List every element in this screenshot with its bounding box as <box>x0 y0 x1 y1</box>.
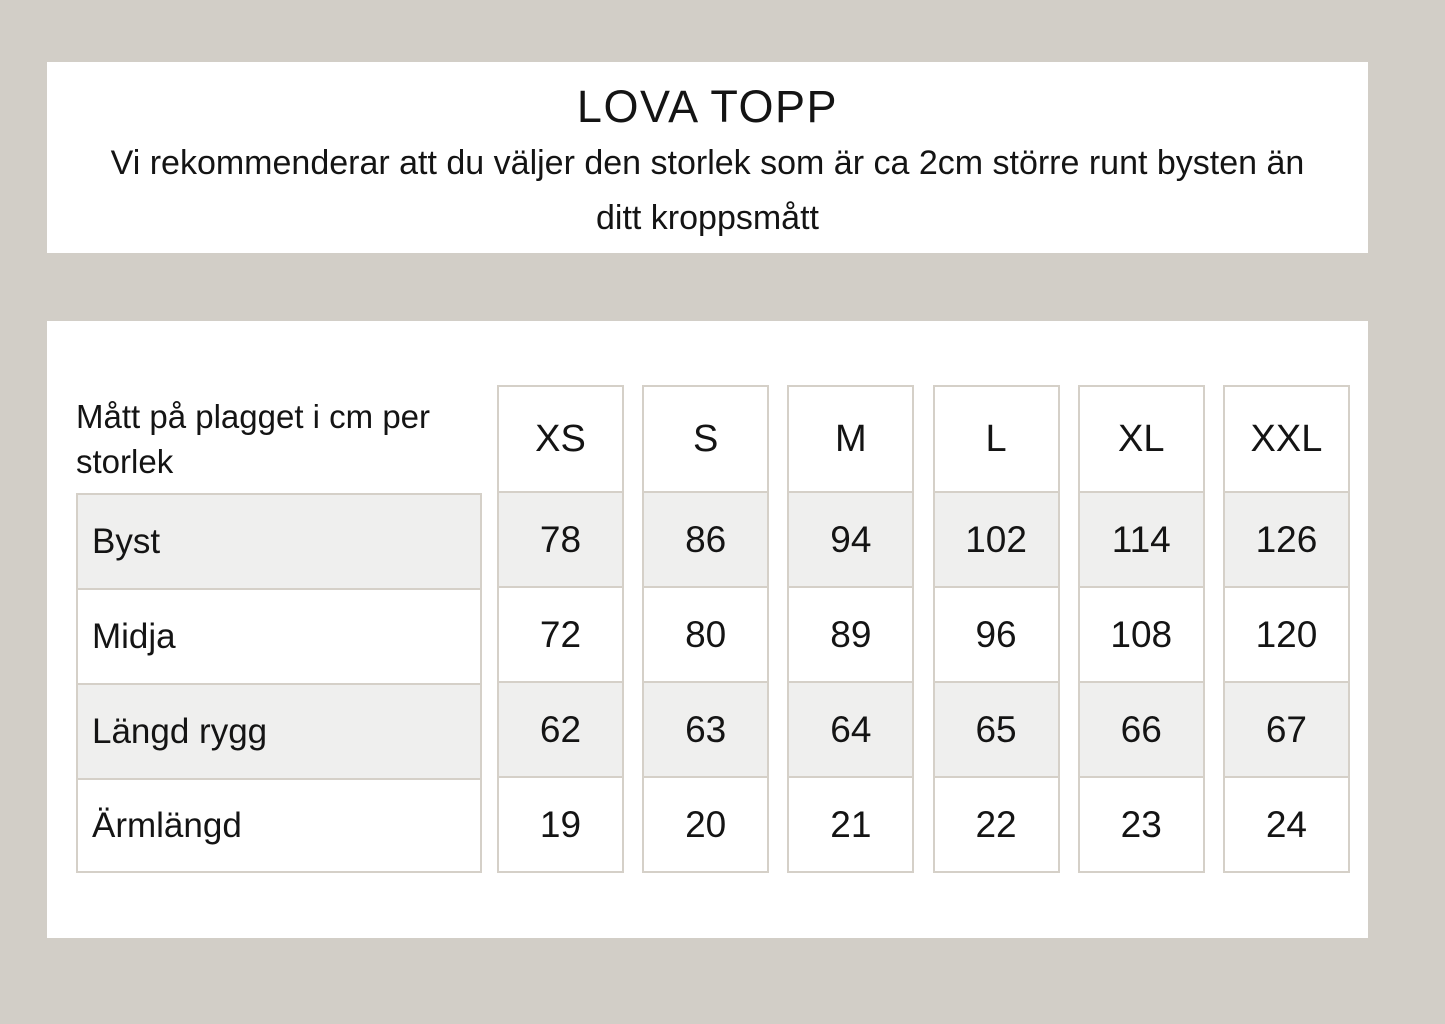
column-header-xs: XS <box>497 385 624 493</box>
page-subtitle: Vi rekommenderar att du väljer den storl… <box>93 136 1323 246</box>
cell-armlangd-s: 20 <box>642 778 769 873</box>
cell-midja-xs: 72 <box>497 588 624 683</box>
cell-langd-rygg-xxl: 67 <box>1223 683 1350 778</box>
cell-byst-s: 86 <box>642 493 769 588</box>
column-header-m: M <box>787 385 914 493</box>
cell-byst-l: 102 <box>933 493 1060 588</box>
cell-byst-xl: 114 <box>1078 493 1205 588</box>
cell-armlangd-l: 22 <box>933 778 1060 873</box>
column-header-xxl: XXL <box>1223 385 1350 493</box>
cell-langd-rygg-l: 65 <box>933 683 1060 778</box>
cell-armlangd-xl: 23 <box>1078 778 1205 873</box>
size-table: Mått på plagget i cm per storlek Byst Mi… <box>76 385 1350 876</box>
cell-midja-l: 96 <box>933 588 1060 683</box>
size-column-xs: XS 78 72 62 19 <box>497 385 624 876</box>
cell-langd-rygg-s: 63 <box>642 683 769 778</box>
size-chart-page: LOVA TOPP Vi rekommenderar att du väljer… <box>0 0 1445 1024</box>
table-corner-header: Mått på plagget i cm per storlek <box>76 385 482 493</box>
measurement-label-column: Mått på plagget i cm per storlek Byst Mi… <box>76 385 482 876</box>
size-column-xxl: XXL 126 120 67 24 <box>1223 385 1350 876</box>
cell-midja-xl: 108 <box>1078 588 1205 683</box>
corner-header-label: Mått på plagget i cm per storlek <box>76 394 476 484</box>
cell-langd-rygg-xl: 66 <box>1078 683 1205 778</box>
cell-langd-rygg-m: 64 <box>787 683 914 778</box>
cell-midja-m: 89 <box>787 588 914 683</box>
row-label-byst: Byst <box>76 493 482 588</box>
column-header-xl: XL <box>1078 385 1205 493</box>
cell-armlangd-xs: 19 <box>497 778 624 873</box>
column-header-s: S <box>642 385 769 493</box>
cell-midja-s: 80 <box>642 588 769 683</box>
cell-armlangd-xxl: 24 <box>1223 778 1350 873</box>
size-column-m: M 94 89 64 21 <box>787 385 914 876</box>
size-column-xl: XL 114 108 66 23 <box>1078 385 1205 876</box>
row-label-midja: Midja <box>76 588 482 683</box>
size-columns: XS 78 72 62 19 S 86 80 63 20 M 94 89 <box>497 385 1350 876</box>
header-card: LOVA TOPP Vi rekommenderar att du väljer… <box>47 62 1368 253</box>
page-title: LOVA TOPP <box>577 78 838 136</box>
cell-byst-xxl: 126 <box>1223 493 1350 588</box>
row-label-armlangd: Ärmlängd <box>76 778 482 873</box>
size-column-s: S 86 80 63 20 <box>642 385 769 876</box>
cell-byst-xs: 78 <box>497 493 624 588</box>
cell-midja-xxl: 120 <box>1223 588 1350 683</box>
row-label-langd-rygg: Längd rygg <box>76 683 482 778</box>
column-header-l: L <box>933 385 1060 493</box>
cell-armlangd-m: 21 <box>787 778 914 873</box>
size-table-card: Mått på plagget i cm per storlek Byst Mi… <box>47 321 1368 938</box>
cell-langd-rygg-xs: 62 <box>497 683 624 778</box>
size-column-l: L 102 96 65 22 <box>933 385 1060 876</box>
cell-byst-m: 94 <box>787 493 914 588</box>
